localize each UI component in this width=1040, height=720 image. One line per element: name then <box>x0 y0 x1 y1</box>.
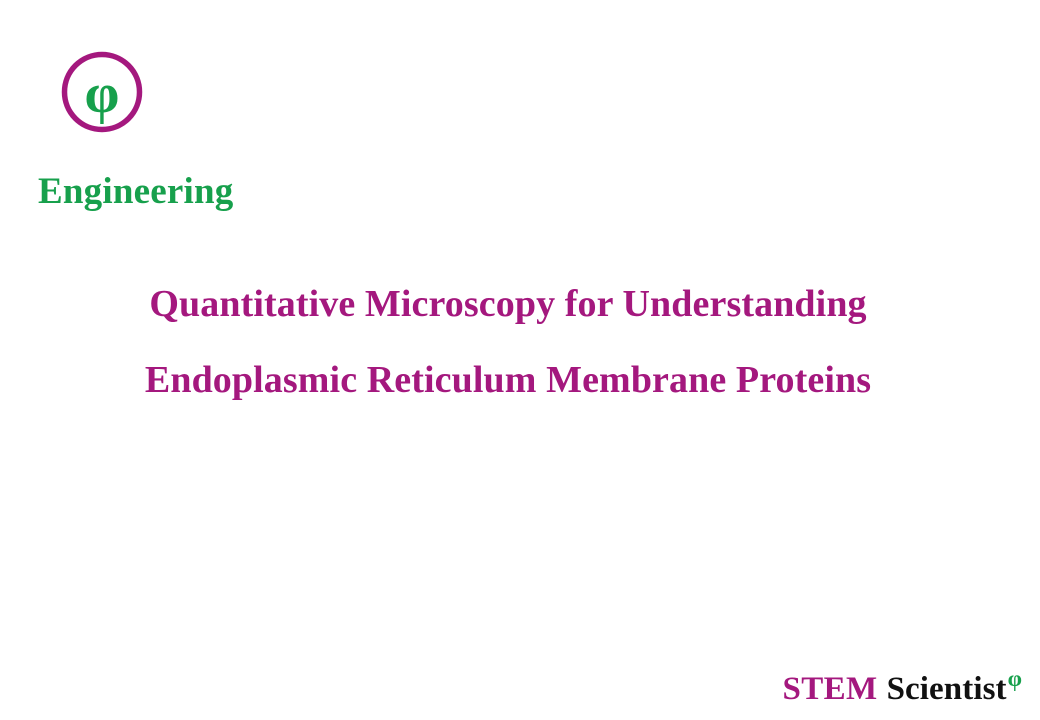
logo-phi-glyph: φ <box>85 63 120 125</box>
title-line-1: Quantitative Microscopy for Understandin… <box>0 266 1016 342</box>
brand-lockup: STEMScientistφ <box>782 667 1022 706</box>
brand-phi-icon: φ <box>1008 666 1022 691</box>
page-title: Quantitative Microscopy for Understandin… <box>0 266 1016 418</box>
brand-primary-word: STEM <box>782 671 877 707</box>
category-label: Engineering <box>38 172 233 213</box>
brand-secondary-word: Scientist <box>887 671 1007 707</box>
phi-in-circle-logo: φ <box>60 50 144 134</box>
title-slide: φ Engineering Quantitative Microscopy fo… <box>0 0 1040 720</box>
title-line-2: Endoplasmic Reticulum Membrane Proteins <box>0 342 1016 418</box>
